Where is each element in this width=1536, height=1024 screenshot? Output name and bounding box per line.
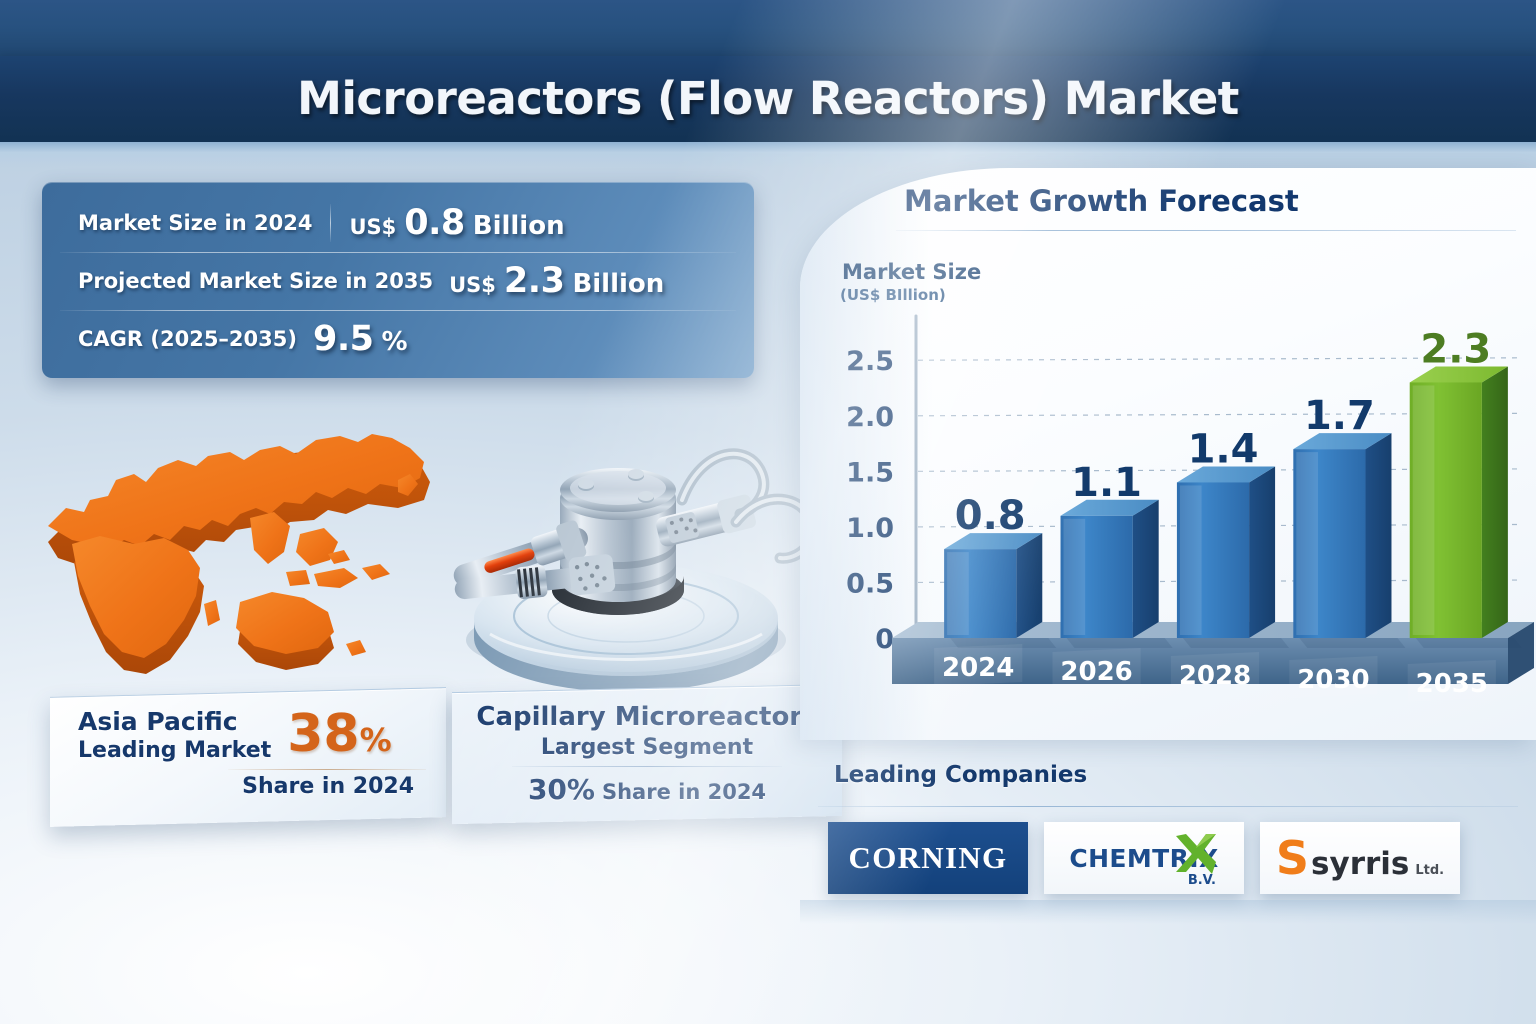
segment-highlight-card: Capillary Microreactors Largest Segment …	[452, 684, 842, 824]
chart-xtick-label: 2030	[1297, 665, 1369, 695]
stat-value-suffix: %	[382, 327, 408, 357]
chart-ytick-label: 1.5	[846, 457, 894, 488]
stat-row-market-size-2024: Market Size in 2024 US$ 0.8 Billion	[42, 194, 754, 252]
stat-value-number: 9.5	[313, 319, 374, 359]
company-logo-chemtrix[interactable]: CHEMTRIX B.V.	[1044, 822, 1244, 894]
chart-y-axis: 00.51.01.52.02.5	[846, 316, 916, 655]
region-card-note: Share in 2024	[78, 774, 426, 799]
region-highlight-card: Asia Pacific Leading Market 38% Share in…	[50, 687, 446, 827]
world-map-icon	[28, 408, 448, 708]
stat-divider	[330, 204, 331, 242]
chart-data-label: 0.8	[955, 493, 1026, 539]
segment-percent-number: 30	[528, 773, 567, 806]
chart-data-label: 1.7	[1304, 393, 1375, 439]
region-card-title: Asia Pacific	[78, 707, 271, 737]
region-card-percent: 38%	[287, 707, 391, 767]
segment-percent-symbol: %	[567, 773, 595, 806]
stat-label: CAGR (2025–2035)	[78, 327, 297, 351]
chart-xtick-label: 2024	[942, 653, 1014, 683]
region-card-subtitle: Leading Market	[78, 737, 271, 765]
chart-xtick-label: 2035	[1416, 669, 1488, 699]
chart-bar	[1410, 366, 1522, 648]
segment-card-note: Share in 2024	[602, 780, 766, 804]
syrris-suffix: Ltd.	[1415, 863, 1444, 878]
chart-bar	[1177, 466, 1289, 648]
microreactor-icon	[420, 390, 840, 710]
stat-row-cagr: CAGR (2025–2035) 9.5 %	[42, 310, 754, 368]
chart-ytick-label: 2.5	[846, 346, 894, 377]
infographic-root: Microreactors (Flow Reactors) Market Mar…	[0, 0, 1536, 1024]
stat-value-suffix: Billion	[572, 269, 664, 299]
segment-card-rule	[512, 766, 782, 767]
segment-percent: 30%	[528, 773, 595, 806]
chart-bar	[1293, 433, 1405, 648]
region-percent-number: 38	[287, 707, 359, 761]
corning-wordmark: CORNING	[849, 840, 1008, 876]
stat-value: US$ 2.3 Billion	[449, 261, 664, 301]
stat-label: Market Size in 2024	[78, 211, 312, 235]
segment-card-subtitle: Largest Segment	[470, 733, 824, 763]
stat-value-prefix: US$	[449, 273, 496, 297]
chart-bars	[944, 366, 1522, 648]
stat-label: Projected Market Size in 2035	[78, 269, 433, 293]
chart-xtick-label: 2026	[1060, 657, 1132, 687]
chart-canvas: 00.51.01.52.02.5 20242026202820302035 0.…	[800, 168, 1536, 740]
chart-xtick-label: 2028	[1179, 661, 1251, 691]
microreactor-device-illustration	[420, 390, 840, 710]
header-top-strip	[0, 0, 1536, 58]
stat-value-suffix: Billion	[473, 211, 565, 241]
syrris-wordmark: syrris	[1311, 846, 1409, 882]
chart-ytick-label: 0.5	[846, 568, 894, 599]
bar-chart-svg: 00.51.01.52.02.5 20242026202820302035 0.…	[800, 168, 1536, 740]
world-map-illustration	[28, 408, 448, 708]
chart-data-label: 2.3	[1420, 326, 1491, 372]
chart-data-label: 1.1	[1071, 460, 1142, 506]
stat-value: US$ 0.8 Billion	[349, 203, 564, 243]
company-logo-corning[interactable]: CORNING	[828, 822, 1028, 894]
companies-title: Leading Companies	[834, 762, 1087, 788]
page-title: Microreactors (Flow Reactors) Market	[0, 60, 1536, 138]
chart-data-label: 1.4	[1188, 426, 1259, 472]
stat-value-prefix: US$	[349, 215, 396, 239]
stat-value: 9.5 %	[313, 319, 408, 359]
stat-value-number: 0.8	[404, 203, 465, 243]
region-percent-symbol: %	[360, 713, 392, 767]
chemtrix-x-icon	[1172, 832, 1218, 876]
chemtrix-suffix: B.V.	[1188, 873, 1216, 888]
region-card-top: Asia Pacific Leading Market 38%	[78, 707, 426, 767]
segment-card-title: Capillary Microreactors	[470, 701, 824, 733]
chart-ytick-label: 1.0	[846, 513, 894, 544]
stat-value-number: 2.3	[504, 261, 565, 301]
header-underglow	[0, 142, 1536, 168]
syrris-mark: S	[1276, 835, 1309, 881]
region-card-rule	[228, 769, 426, 770]
company-logo-row: CORNING CHEMTRIX B.V. S syrris Ltd.	[828, 822, 1460, 894]
companies-rule	[818, 806, 1518, 807]
chart-ytick-label: 0	[875, 624, 894, 655]
key-stats-panel: Market Size in 2024 US$ 0.8 Billion Proj…	[42, 182, 754, 378]
chart-ytick-label: 2.0	[846, 402, 894, 433]
bottom-shelf	[800, 900, 1536, 924]
stat-row-projected-2035: Projected Market Size in 2035 US$ 2.3 Bi…	[42, 252, 754, 310]
market-growth-chart-panel: Market Growth Forecast Market Size (US$ …	[800, 168, 1536, 740]
segment-card-share: 30% Share in 2024	[470, 773, 824, 806]
company-logo-syrris[interactable]: S syrris Ltd.	[1260, 822, 1460, 894]
